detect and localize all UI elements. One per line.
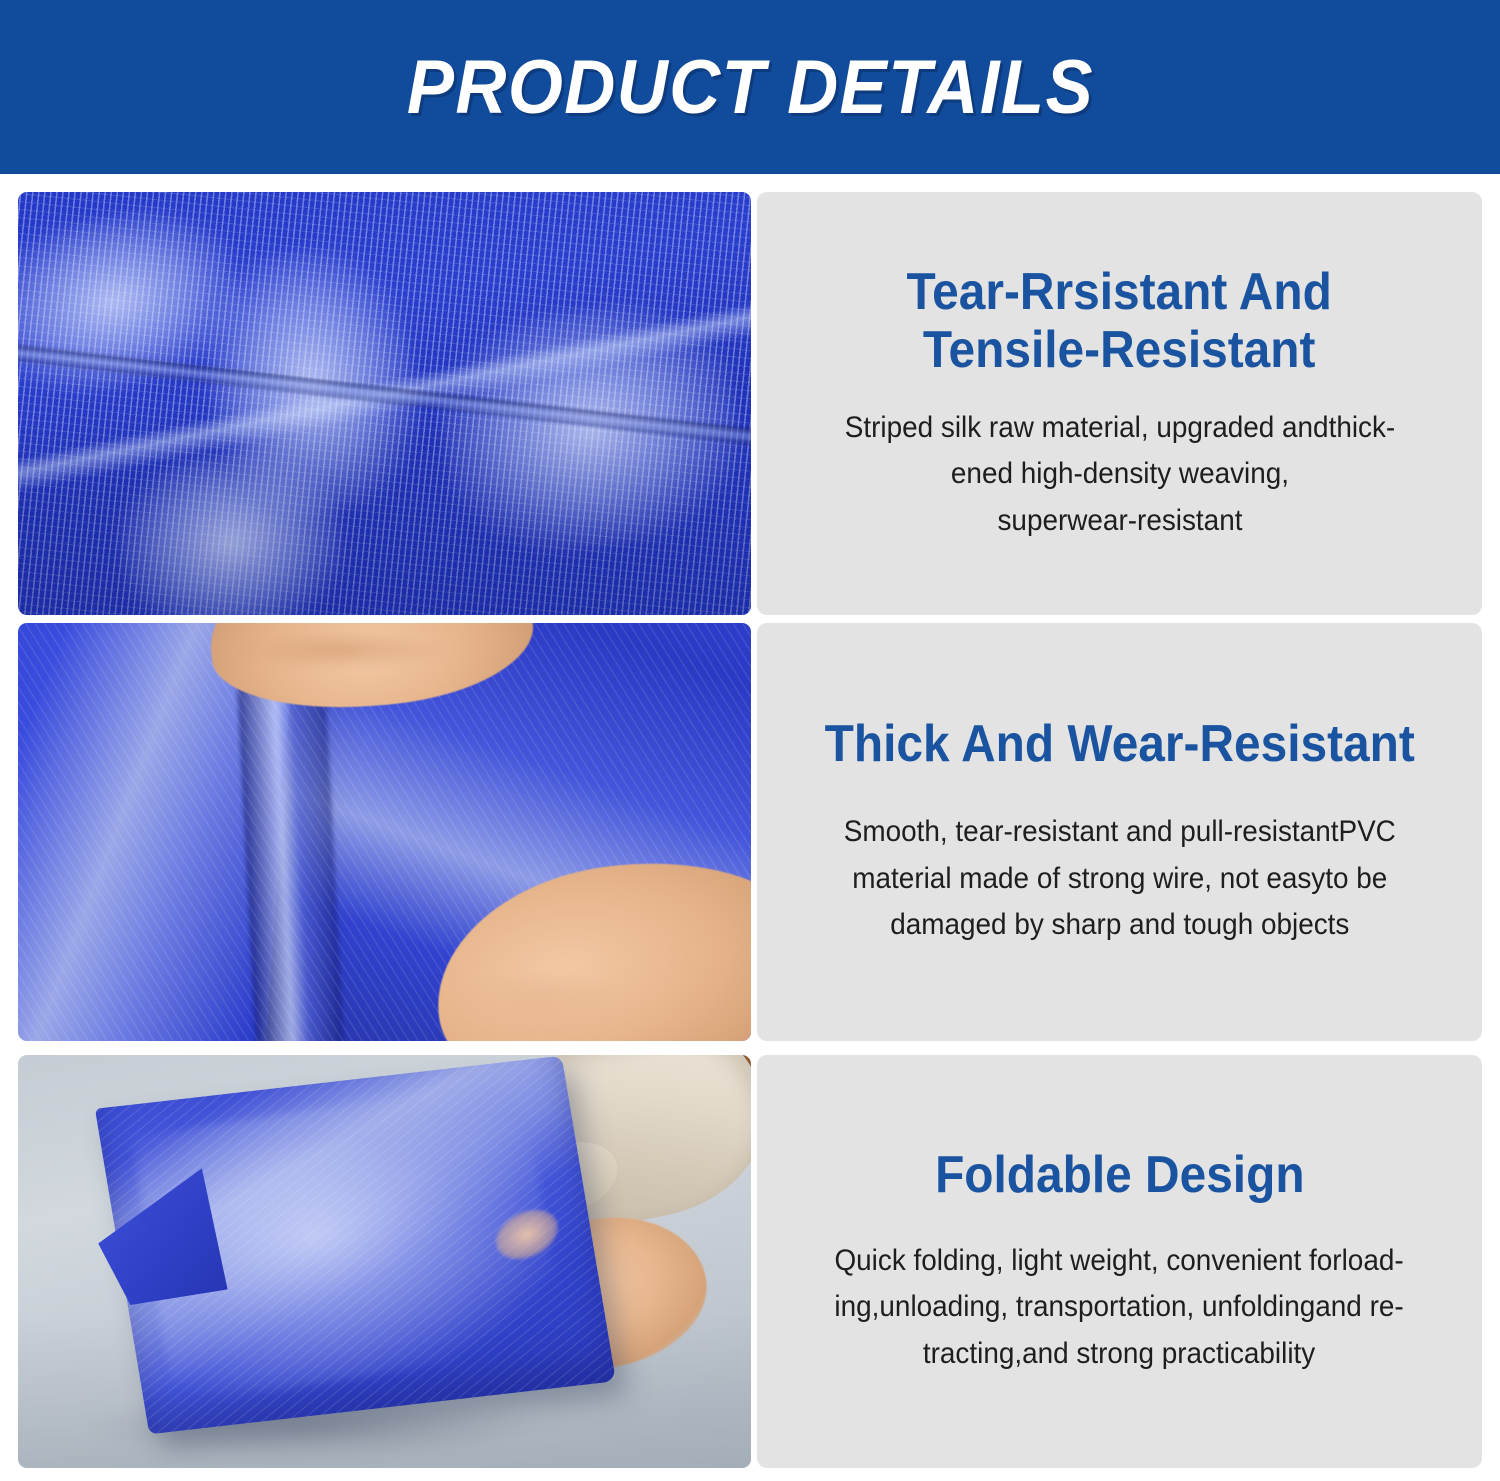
feature-text-panel: Foldable Design Quick folding, light wei… [757, 1055, 1482, 1468]
feature-text-panel: Thick And Wear-Resistant Smooth, tear-re… [757, 623, 1482, 1041]
feature-heading: Thick And Wear-Resistant [824, 715, 1414, 773]
feature-text-panel: Tear-Rrsistant And Tensile-Resistant Str… [757, 192, 1482, 615]
hands-stretching-tarp-photo [18, 623, 751, 1041]
photo-vignette [18, 192, 751, 615]
lower-hand-fingers [450, 974, 626, 1033]
tarp-weave-closeup-photo [18, 192, 751, 615]
feature-row: Foldable Design Quick folding, light wei… [0, 1055, 1500, 1468]
tarp-weave-scene [18, 192, 751, 615]
feature-heading: Tear-Rrsistant And Tensile-Resistant [907, 263, 1332, 379]
feature-description: Smooth, tear-resistant and pull-resistan… [843, 809, 1395, 949]
feature-row: Tear-Rrsistant And Tensile-Resistant Str… [0, 192, 1500, 615]
page-header-banner: PRODUCT DETAILS [0, 0, 1500, 174]
hands-stretching-scene [18, 623, 751, 1041]
feature-row: Thick And Wear-Resistant Smooth, tear-re… [0, 623, 1500, 1041]
folded-tarp-scene [18, 1055, 751, 1468]
folded-tarp-held-photo [18, 1055, 751, 1468]
upper-hand-knuckles [238, 631, 443, 669]
feature-list: Tear-Rrsistant And Tensile-Resistant Str… [0, 174, 1500, 1481]
feature-description: Striped silk raw material, upgraded andt… [844, 405, 1395, 545]
feature-heading: Foldable Design [935, 1146, 1304, 1204]
feature-description: Quick folding, light weight, convenient … [835, 1238, 1404, 1378]
page-title: PRODUCT DETAILS [406, 50, 1093, 126]
